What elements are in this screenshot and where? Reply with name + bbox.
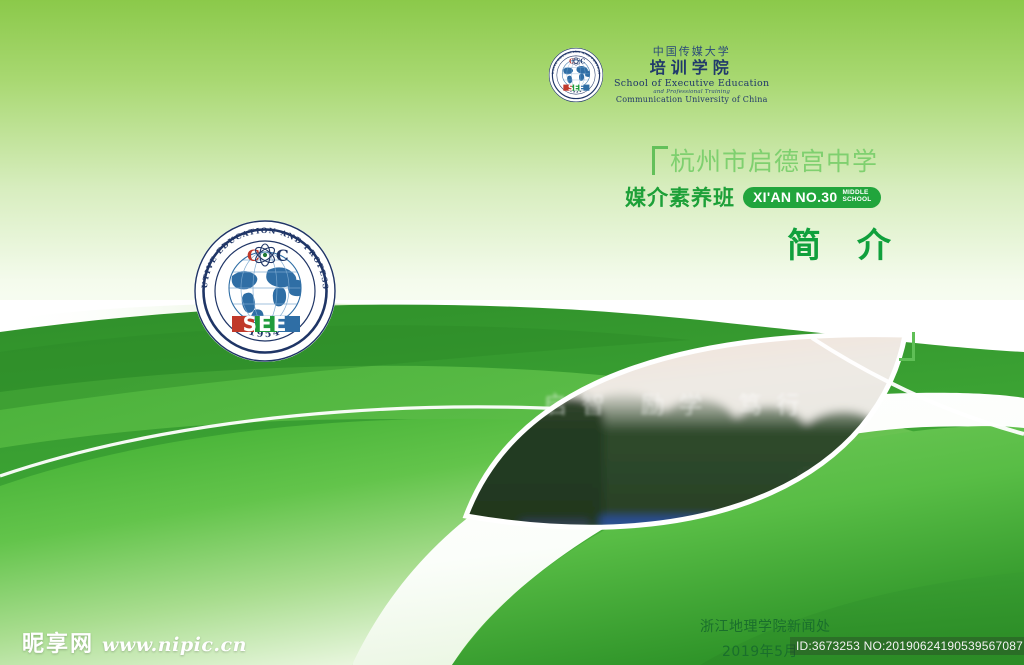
svg-text:C: C xyxy=(569,58,574,65)
background-artwork xyxy=(0,0,1024,665)
watermark-id: ID:3673253 NO:20190624190539567087 xyxy=(790,637,1024,655)
document-kind: 简 介 xyxy=(787,218,903,267)
brand-en-line1: School of Executive Education xyxy=(614,79,769,89)
badge-sub-text: MIDDLE SCHOOL xyxy=(842,189,871,203)
cuc-seal-large: SCHOOL OF EXECUTIVE EDUCATION AND PROFES… xyxy=(192,218,338,364)
badge-sub-line2: SCHOOL xyxy=(842,197,871,204)
corner-bracket-top-left-icon xyxy=(652,146,668,175)
issuer: 浙江地理学院新闻处 xyxy=(700,616,831,636)
header-wordmark: 中国传媒大学 培训学院 School of Executive Educatio… xyxy=(614,46,769,104)
svg-text:C: C xyxy=(276,246,289,265)
cuc-seal-small: SCHOOL OF EXECUTIVE EDUCATION AND PROFES… xyxy=(548,47,604,103)
photo-caption: 启智 励学 笃行 xyxy=(543,385,814,420)
badge-main-text: XI'AN NO.30 xyxy=(753,189,837,205)
header-brand: SCHOOL OF EXECUTIVE EDUCATION AND PROFES… xyxy=(548,46,769,104)
svg-text:SEE: SEE xyxy=(568,83,584,92)
brand-en-line3: Communication University of China xyxy=(616,96,768,104)
brand-cn-college: 培训学院 xyxy=(650,60,734,76)
watermark-site-cn: 昵享网 xyxy=(22,626,94,658)
brochure-cover: SCHOOL OF EXECUTIVE EDUCATION AND PROFES… xyxy=(0,0,1024,665)
school-name: 杭州市启德宫中学 xyxy=(670,142,878,178)
corner-bracket-bottom-right-icon xyxy=(899,332,915,361)
course-row: 媒介素养班 XI'AN NO.30 MIDDLE SCHOOL xyxy=(625,182,881,212)
brand-cn-university: 中国传媒大学 xyxy=(653,46,731,57)
course-name: 媒介素养班 xyxy=(625,182,735,212)
svg-text:C: C xyxy=(580,58,585,65)
watermark-site-url: www.nipic.cn xyxy=(102,634,247,656)
watermark-site: 昵享网 www.nipic.cn xyxy=(22,626,247,658)
school-badge: XI'AN NO.30 MIDDLE SCHOOL xyxy=(743,187,881,208)
svg-text:SEE: SEE xyxy=(243,312,288,336)
